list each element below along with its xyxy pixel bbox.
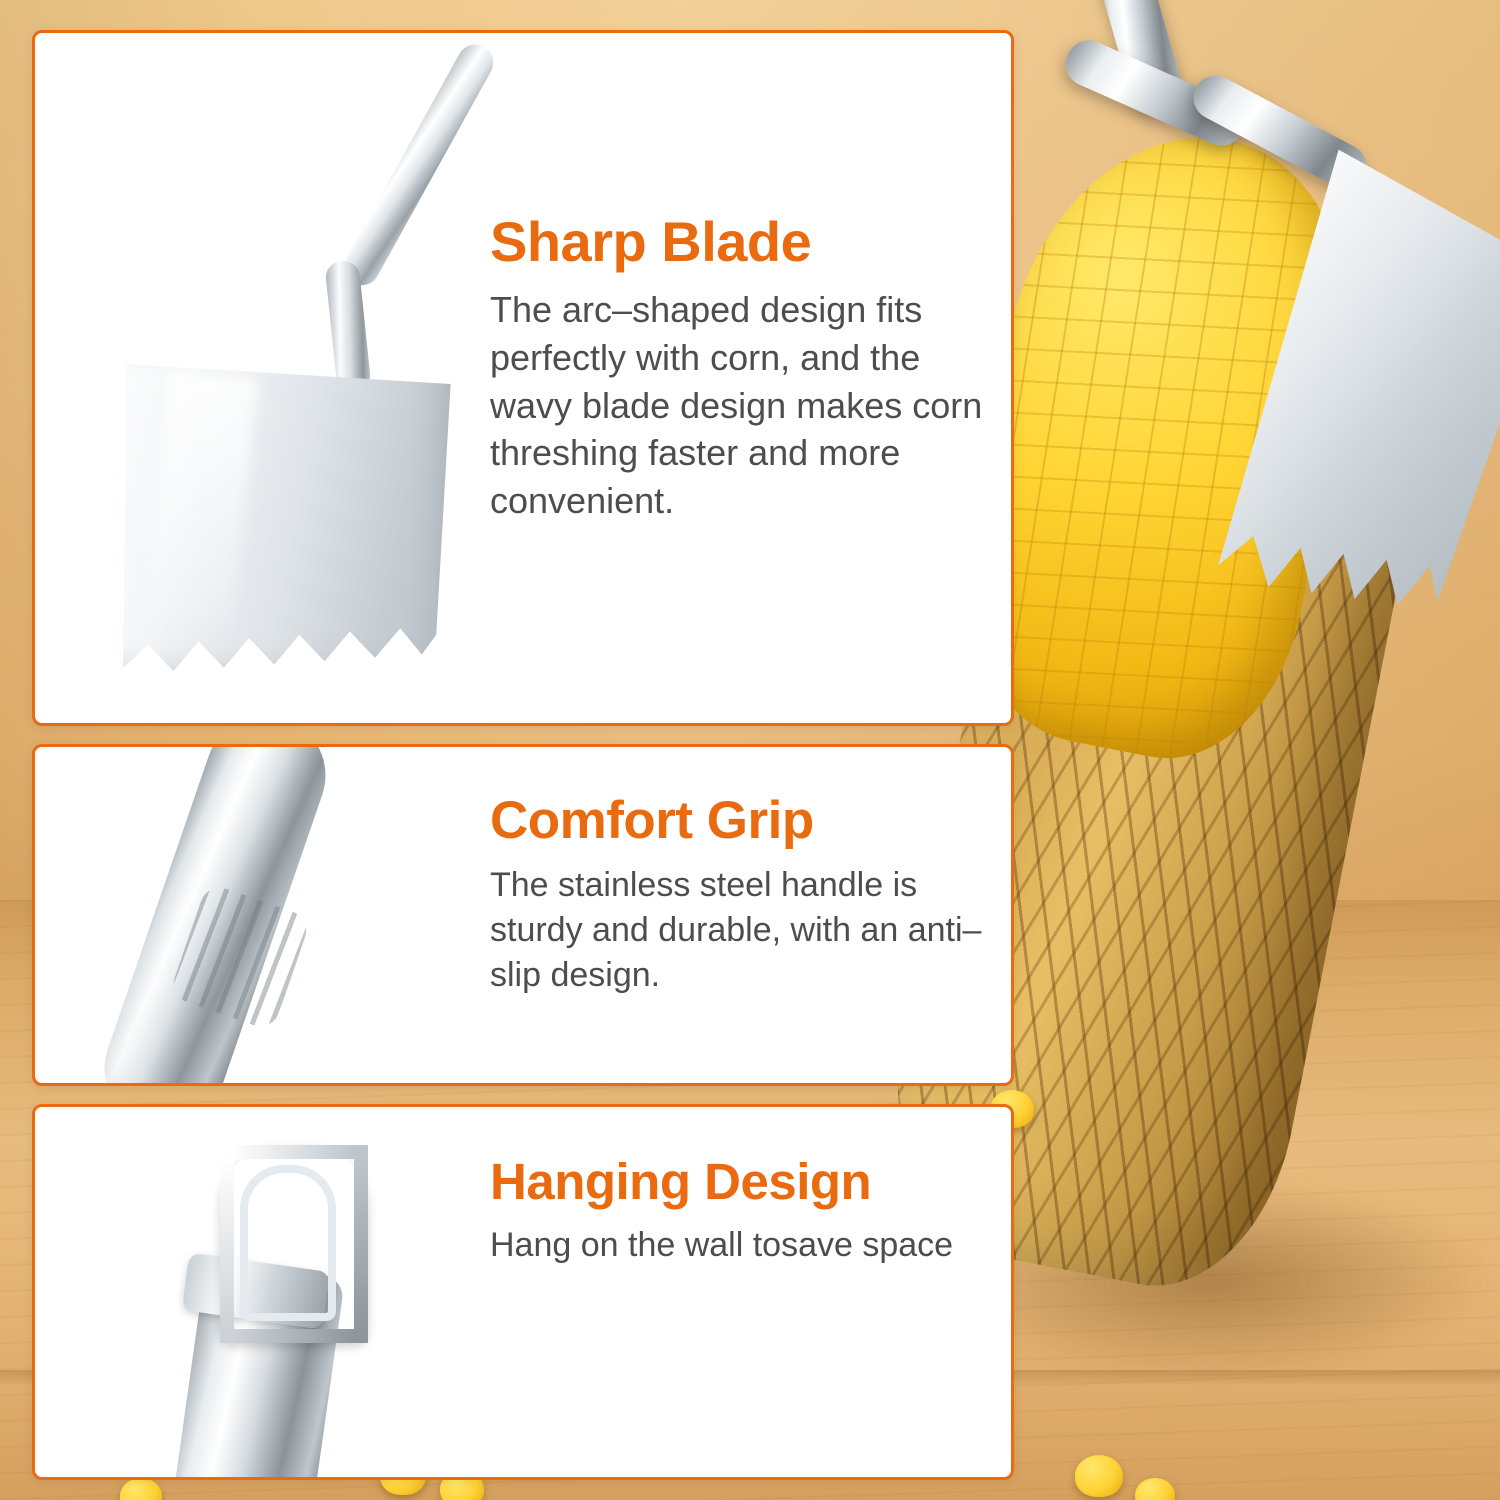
feature-card-comfort-grip: Comfort Grip The stainless steel handle … — [32, 744, 1014, 1086]
feature-text-sharp-blade: Sharp Blade The arc–shaped design fits p… — [490, 213, 985, 525]
feature-title: Sharp Blade — [490, 213, 985, 272]
feature-text-hanging-design: Hanging Design Hang on the wall tosave s… — [490, 1155, 985, 1268]
feature-title: Comfort Grip — [490, 793, 985, 849]
feature-description: The stainless steel handle is sturdy and… — [490, 863, 985, 999]
feature-title: Hanging Design — [490, 1155, 985, 1209]
feature-card-hanging-design: Hanging Design Hang on the wall tosave s… — [32, 1104, 1014, 1480]
blade-rod-upper — [337, 38, 499, 292]
feature-text-comfort-grip: Comfort Grip The stainless steel handle … — [490, 793, 985, 998]
loose-corn-kernel — [1075, 1455, 1123, 1497]
hanging-loop-inner-ring — [240, 1165, 336, 1321]
feature-card-sharp-blade: Sharp Blade The arc–shaped design fits p… — [32, 30, 1014, 726]
feature-description: The arc–shaped design fits perfectly wit… — [490, 286, 985, 525]
feature-description: Hang on the wall tosave space — [490, 1223, 985, 1268]
product-feature-image: Sharp Blade The arc–shaped design fits p… — [0, 0, 1500, 1500]
